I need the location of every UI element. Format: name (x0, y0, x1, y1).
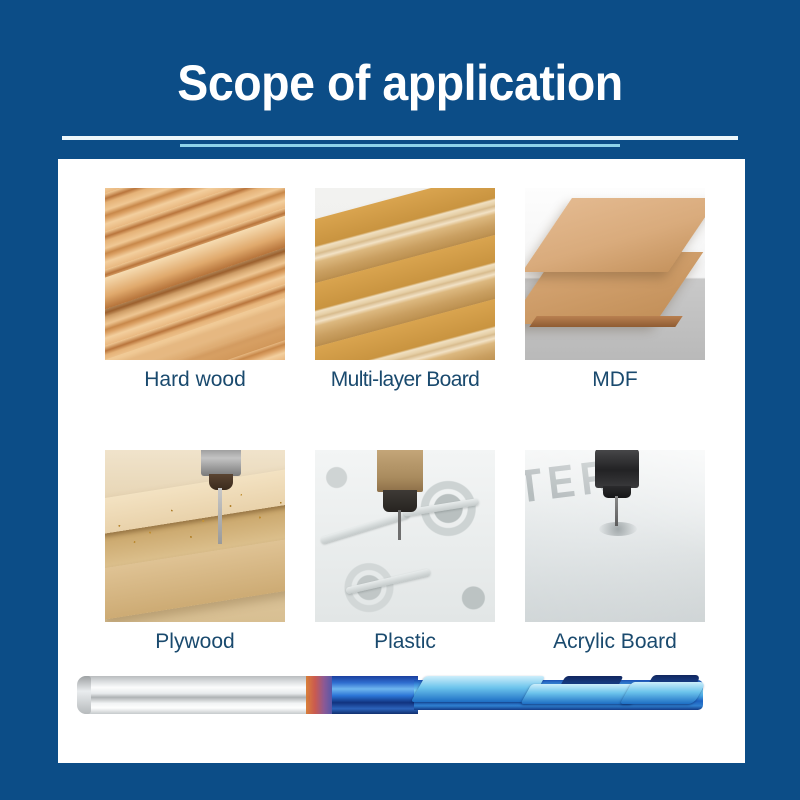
multi-layer-board-image (315, 188, 495, 360)
title-rule-primary (62, 136, 738, 140)
material-card-plastic: Plastic (315, 450, 495, 654)
plastic-image (315, 450, 495, 622)
material-label: Acrylic Board (525, 630, 705, 654)
cnc-bit (398, 510, 401, 540)
material-card-mdf: MDF (525, 188, 705, 392)
page-title: Scope of application (28, 54, 772, 112)
cnc-spindle (201, 450, 241, 476)
cnc-spindle (595, 450, 639, 488)
router-bit-product-image (78, 666, 703, 724)
mdf-image (525, 188, 705, 360)
material-label: Plywood (105, 630, 285, 654)
material-label: MDF (525, 368, 705, 392)
flute-cutting-edge (620, 682, 706, 704)
material-card-acrylic-board: TER Acrylic Board (525, 450, 705, 654)
poster: Scope of application Hard wood Multi-lay… (0, 0, 800, 800)
material-row-2: Plywood Plastic (105, 450, 705, 654)
plywood-image (105, 450, 285, 622)
material-row-1: Hard wood Multi-layer Board (105, 188, 705, 392)
mdf-sheet-edge (529, 316, 682, 327)
material-card-plywood: Plywood (105, 450, 285, 654)
material-grid: Hard wood Multi-layer Board (105, 188, 705, 654)
cnc-spindle (377, 450, 423, 492)
bit-coated-neck (332, 676, 418, 714)
bit-shank (78, 676, 310, 714)
material-label: Multi-layer Board (315, 368, 495, 392)
engraving-chip (599, 522, 637, 536)
bit-cutting-flutes (414, 672, 703, 718)
acrylic-board-image: TER (525, 450, 705, 622)
hard-wood-image (105, 188, 285, 360)
title-rule-accent (180, 144, 620, 147)
material-label: Hard wood (105, 368, 285, 392)
material-card-multi-layer-board: Multi-layer Board (315, 188, 495, 392)
cnc-bit (218, 488, 222, 544)
material-label: Plastic (315, 630, 495, 654)
cnc-bit (615, 496, 618, 526)
cnc-collet (383, 490, 417, 512)
material-card-hard-wood: Hard wood (105, 188, 285, 392)
